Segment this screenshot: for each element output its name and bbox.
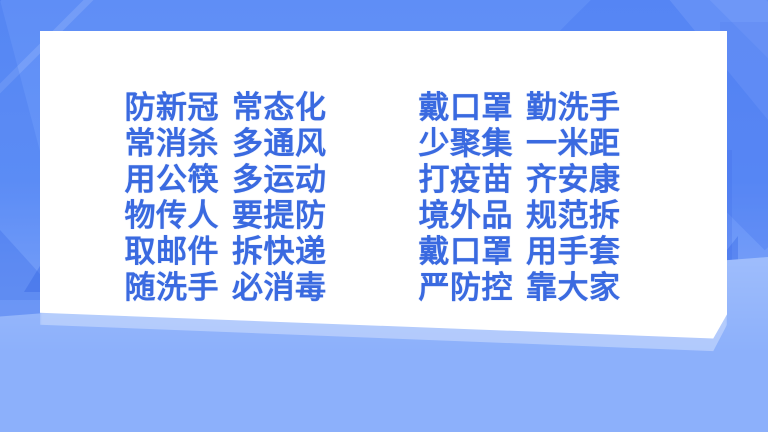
poster-canvas: 防新冠 常态化 戴口罩 勤洗手 常消杀 多通风 少聚集 一米距 用公筷 多运动 (0, 0, 768, 432)
slogan-phrase: 齐安康 (526, 165, 621, 196)
slogan-phrase: 常消杀 (125, 129, 220, 160)
slogan-cell-left: 取邮件 拆快递 (125, 237, 349, 268)
slogan-phrase: 少聚集 (419, 129, 514, 160)
slogan-phrase: 用公筷 (125, 165, 220, 196)
slogan-phrase: 靠大家 (526, 273, 621, 304)
slogan-row: 防新冠 常态化 戴口罩 勤洗手 (40, 90, 727, 126)
slogan-phrase: 戴口罩 (419, 93, 514, 124)
slogan-phrase: 必消毒 (232, 273, 327, 304)
slogan-cell-right: 打疫苗 齐安康 (419, 165, 643, 196)
slogan-row: 常消杀 多通风 少聚集 一米距 (40, 126, 727, 162)
slogan-cell-left: 随洗手 必消毒 (125, 273, 349, 304)
slogan-phrase: 要提防 (232, 201, 327, 232)
slogan-row: 取邮件 拆快递 戴口罩 用手套 (40, 234, 727, 270)
slogan-phrase: 防新冠 (125, 93, 220, 124)
slogan-phrase: 多运动 (232, 165, 327, 196)
slogan-row: 物传人 要提防 境外品 规范拆 (40, 198, 727, 234)
slogan-cell-left: 物传人 要提防 (125, 201, 349, 232)
slogan-cell-left: 用公筷 多运动 (125, 165, 349, 196)
slogan-phrase: 常态化 (232, 93, 327, 124)
slogan-row: 随洗手 必消毒 严防控 靠大家 (40, 270, 727, 306)
slogan-phrase: 规范拆 (526, 201, 621, 232)
slogan-phrase: 严防控 (419, 273, 514, 304)
slogan-phrase: 打疫苗 (419, 165, 514, 196)
slogan-cell-left: 常消杀 多通风 (125, 129, 349, 160)
slogan-phrase: 多通风 (232, 129, 327, 160)
slogan-phrase: 戴口罩 (419, 237, 514, 268)
slogan-cell-right: 严防控 靠大家 (419, 273, 643, 304)
slogan-phrase: 取邮件 (125, 237, 220, 268)
slogan-phrase: 物传人 (125, 201, 220, 232)
slogan-phrase: 勤洗手 (526, 93, 621, 124)
slogan-cell-left: 防新冠 常态化 (125, 93, 349, 124)
slogan-phrase: 用手套 (526, 237, 621, 268)
slogan-cell-right: 戴口罩 勤洗手 (419, 93, 643, 124)
slogan-phrase: 随洗手 (125, 273, 220, 304)
slogan-row: 用公筷 多运动 打疫苗 齐安康 (40, 162, 727, 198)
slogan-phrase: 一米距 (526, 129, 621, 160)
slogan-phrase: 拆快递 (232, 237, 327, 268)
slogan-phrase: 境外品 (419, 201, 514, 232)
slogan-cell-right: 少聚集 一米距 (419, 129, 643, 160)
slogan-grid: 防新冠 常态化 戴口罩 勤洗手 常消杀 多通风 少聚集 一米距 用公筷 多运动 (40, 31, 727, 353)
slogan-cell-right: 境外品 规范拆 (419, 201, 643, 232)
slogan-cell-right: 戴口罩 用手套 (419, 237, 643, 268)
